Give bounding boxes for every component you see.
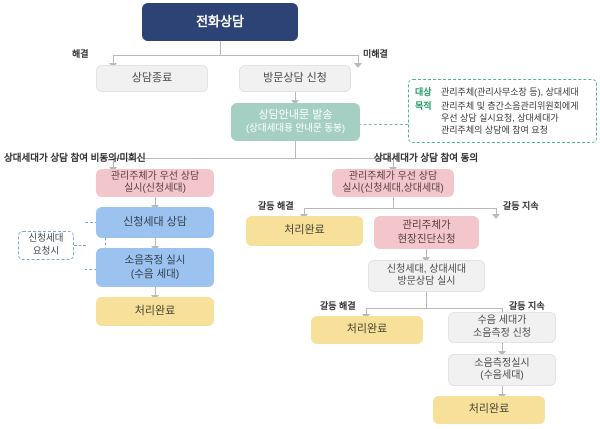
node-manager-first-consult-both-line2: 실시(신청세대,상대세대) (342, 183, 443, 196)
callout-key-purpose: 목적 (415, 100, 441, 112)
node-visit-consult-both[interactable]: 신청세대, 상대세대 방문상담 실시 (368, 260, 485, 292)
node-noise-measurement-applicant-line1: 소음측정 실시 (125, 254, 186, 267)
node-noise-measurement-b-line2: (수음세대) (480, 370, 523, 383)
edge-visitboth-split (366, 308, 502, 309)
callout-value-target: 관리주체(관리사무소장 등), 상대세대 (441, 86, 579, 98)
node-notice-send-line2: (상대세대용 안내문 동봉) (246, 123, 345, 135)
edge-label-conflict-continued-2: 갈등 지속 (509, 299, 545, 312)
callout-row-target: 대상 관리주체(관리사무소장 등), 상대세대 (415, 86, 588, 98)
edge-label-conflict-solved-1: 갈등 해결 (258, 199, 294, 212)
edge-label-conflict-solved-2: 갈등 해결 (320, 299, 356, 312)
node-manager-first-consult-applicant[interactable]: 관리주체가 우선 상담 실시(신청세대) (96, 169, 214, 197)
node-visit-consult-both-line2: 방문상담 실시 (398, 276, 456, 289)
node-visit-consult-both-line1: 신청세대, 상대세대 (387, 264, 466, 277)
node-applicant-consult[interactable]: 신청세대 상담 (96, 207, 214, 238)
node-done-a-line1: 처리완료 (135, 305, 175, 319)
node-start[interactable]: 전화상담 (142, 3, 298, 41)
node-manager-first-consult-both-line1: 관리주체가 우선 상담 (349, 171, 437, 184)
node-done-a[interactable]: 처리완료 (96, 297, 214, 326)
node-visit-request-line1: 방문상담 신청 (263, 72, 327, 86)
node-manager-first-consult-applicant-line2: 실시(신청세대) (124, 183, 186, 196)
node-done-d[interactable]: 처리완료 (433, 396, 545, 424)
node-done-c[interactable]: 처리완료 (311, 316, 423, 344)
edge-notice-down (295, 141, 296, 158)
edge-label-conflict-continued-1: 갈등 지속 (503, 199, 539, 212)
node-done-b-line1: 처리완료 (284, 224, 324, 238)
edge-label-agree: 상대세대가 상담 참여 동의 (374, 150, 478, 164)
bracket-stub (74, 245, 86, 246)
node-onsite-diagnosis-request[interactable]: 관리주체가 현장진단신청 (374, 216, 479, 249)
node-noise-measurement-applicant-line2: (수음 세대) (131, 268, 180, 281)
node-start-line1: 전화상담 (196, 14, 244, 30)
side-note-line1: 신청세대 (29, 233, 64, 244)
edge-label-decline: 상대세대가 상담 참여 비동의/미회신 (4, 150, 146, 164)
node-notice-send-line1: 상담안내문 발송 (259, 109, 333, 123)
callout-value-purpose: 관리주체 및 층간소음관리위원회에게 우선 상담 실시요청, 상대세대가 관리주… (441, 100, 578, 136)
node-done-b[interactable]: 처리완료 (246, 216, 363, 246)
node-applicant-consult-line1: 신청세대 상담 (123, 216, 187, 230)
edge-start-down (220, 41, 221, 55)
node-onsite-diagnosis-request-line1: 관리주체가 (402, 219, 450, 232)
node-manager-first-consult-both[interactable]: 관리주체가 우선 상담 실시(신청세대,상대세대) (332, 169, 454, 197)
edge-mgrfirstb-down (393, 197, 394, 208)
side-note-applicant-request: 신청세대 요청시 (18, 231, 74, 260)
flowchart-canvas: 해결 미해결 상대세대가 상담 참여 비동의/미회신 상대세대가 상담 참여 동… (0, 0, 600, 429)
node-noise-measurement-applicant[interactable]: 소음측정 실시 (수음 세대) (96, 248, 214, 287)
callout-key-target: 대상 (415, 86, 441, 98)
node-end-call-line1: 상담종료 (132, 72, 172, 86)
node-manager-first-consult-applicant-line1: 관리주체가 우선 상담 (111, 171, 199, 184)
node-noise-measurement-b-line1: 소음측정실시 (474, 358, 529, 371)
edge-label-resolved: 해결 (72, 47, 89, 60)
node-visit-request[interactable]: 방문상담 신청 (239, 65, 351, 92)
edge-mgrfirstb-split (304, 208, 496, 209)
arrow-to-visitreq (354, 63, 362, 68)
edge-start-split (113, 55, 358, 56)
arrow-to-onsitereq (492, 214, 500, 219)
node-done-d-line1: 처리완료 (469, 403, 509, 417)
callout-target-purpose: 대상 관리주체(관리사무소장 등), 상대세대 목적 관리주체 및 층간소음관리… (408, 79, 597, 143)
node-noise-measurement-request-line2: 소음측정 신청 (473, 328, 531, 341)
callout-row-purpose: 목적 관리주체 및 층간소음관리위원회에게 우선 상담 실시요청, 상대세대가 … (415, 100, 588, 136)
node-notice-send[interactable]: 상담안내문 발송 (상대세대용 안내문 동봉) (231, 103, 360, 141)
edge-label-unresolved: 미해결 (363, 47, 388, 60)
side-note-line2: 요청시 (33, 246, 59, 257)
node-noise-measurement-request[interactable]: 수음 세대가 소음측정 신청 (448, 312, 556, 343)
edge-notice-split (113, 158, 393, 159)
node-end-call[interactable]: 상담종료 (96, 65, 208, 92)
node-noise-measurement-request-line1: 수음 세대가 (478, 315, 527, 328)
node-onsite-diagnosis-request-line2: 현장진단신청 (398, 233, 456, 246)
edge-visitboth-down (426, 292, 427, 308)
node-done-c-line1: 처리완료 (347, 323, 387, 337)
node-noise-measurement-b[interactable]: 소음측정실시 (수음세대) (448, 354, 556, 386)
